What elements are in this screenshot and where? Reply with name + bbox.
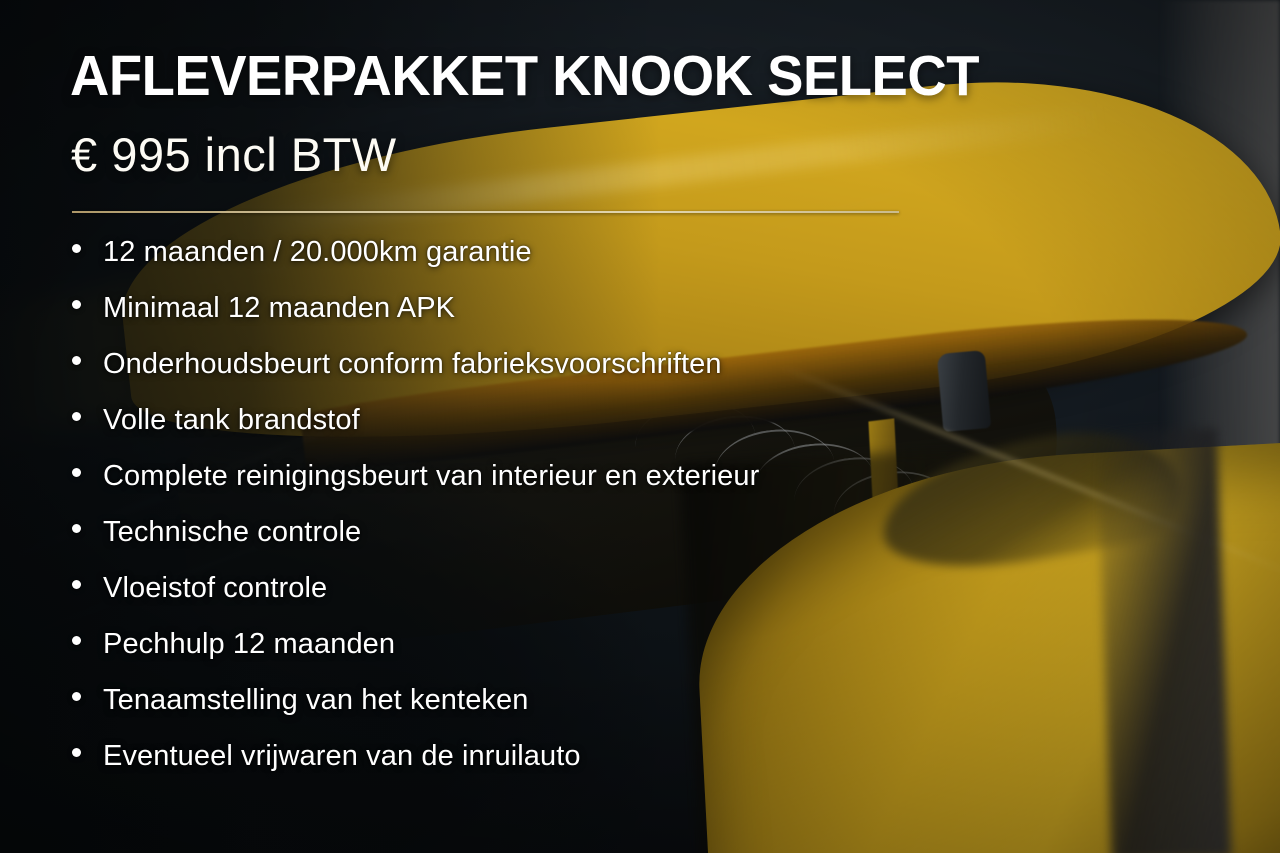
list-item-label: Tenaamstelling van het kenteken (103, 684, 528, 717)
bullet-icon (72, 300, 81, 309)
list-item-label: Complete reinigingsbeurt van interieur e… (103, 460, 759, 493)
list-item: Eventueel vrijwaren van de inruilauto (72, 740, 759, 796)
package-price: € 995 incl BTW (71, 130, 397, 179)
package-title: AFLEVERPAKKET KNOOK SELECT (70, 47, 979, 105)
bullet-icon (72, 468, 81, 477)
list-item: Complete reinigingsbeurt van interieur e… (72, 460, 759, 516)
bullet-icon (72, 412, 81, 421)
list-item-label: Volle tank brandstof (103, 404, 360, 437)
list-item: Volle tank brandstof (72, 404, 759, 460)
list-item: Tenaamstelling van het kenteken (72, 684, 759, 740)
list-item-label: Eventueel vrijwaren van de inruilauto (103, 740, 581, 773)
list-item-label: Minimaal 12 maanden APK (103, 292, 455, 325)
bullet-icon (72, 636, 81, 645)
list-item: Pechhulp 12 maanden (72, 628, 759, 684)
feature-list: 12 maanden / 20.000km garantie Minimaal … (72, 236, 759, 796)
bullet-icon (72, 692, 81, 701)
list-item: Minimaal 12 maanden APK (72, 292, 759, 348)
list-item-label: Vloeistof controle (103, 572, 327, 605)
list-item-label: Pechhulp 12 maanden (103, 628, 395, 661)
bullet-icon (72, 244, 81, 253)
list-item: Vloeistof controle (72, 572, 759, 628)
bullet-icon (72, 356, 81, 365)
list-item-label: Technische controle (103, 516, 361, 549)
banner-content: AFLEVERPAKKET KNOOK SELECT € 995 incl BT… (0, 0, 1280, 853)
promo-banner: AFLEVERPAKKET KNOOK SELECT € 995 incl BT… (0, 0, 1280, 853)
bullet-icon (72, 748, 81, 757)
bullet-icon (72, 580, 81, 589)
bullet-icon (72, 524, 81, 533)
list-item: Technische controle (72, 516, 759, 572)
list-item: 12 maanden / 20.000km garantie (72, 236, 759, 292)
list-item-label: 12 maanden / 20.000km garantie (103, 236, 532, 269)
list-item-label: Onderhoudsbeurt conform fabrieksvoorschr… (103, 348, 722, 381)
gold-divider (72, 211, 899, 213)
list-item: Onderhoudsbeurt conform fabrieksvoorschr… (72, 348, 759, 404)
